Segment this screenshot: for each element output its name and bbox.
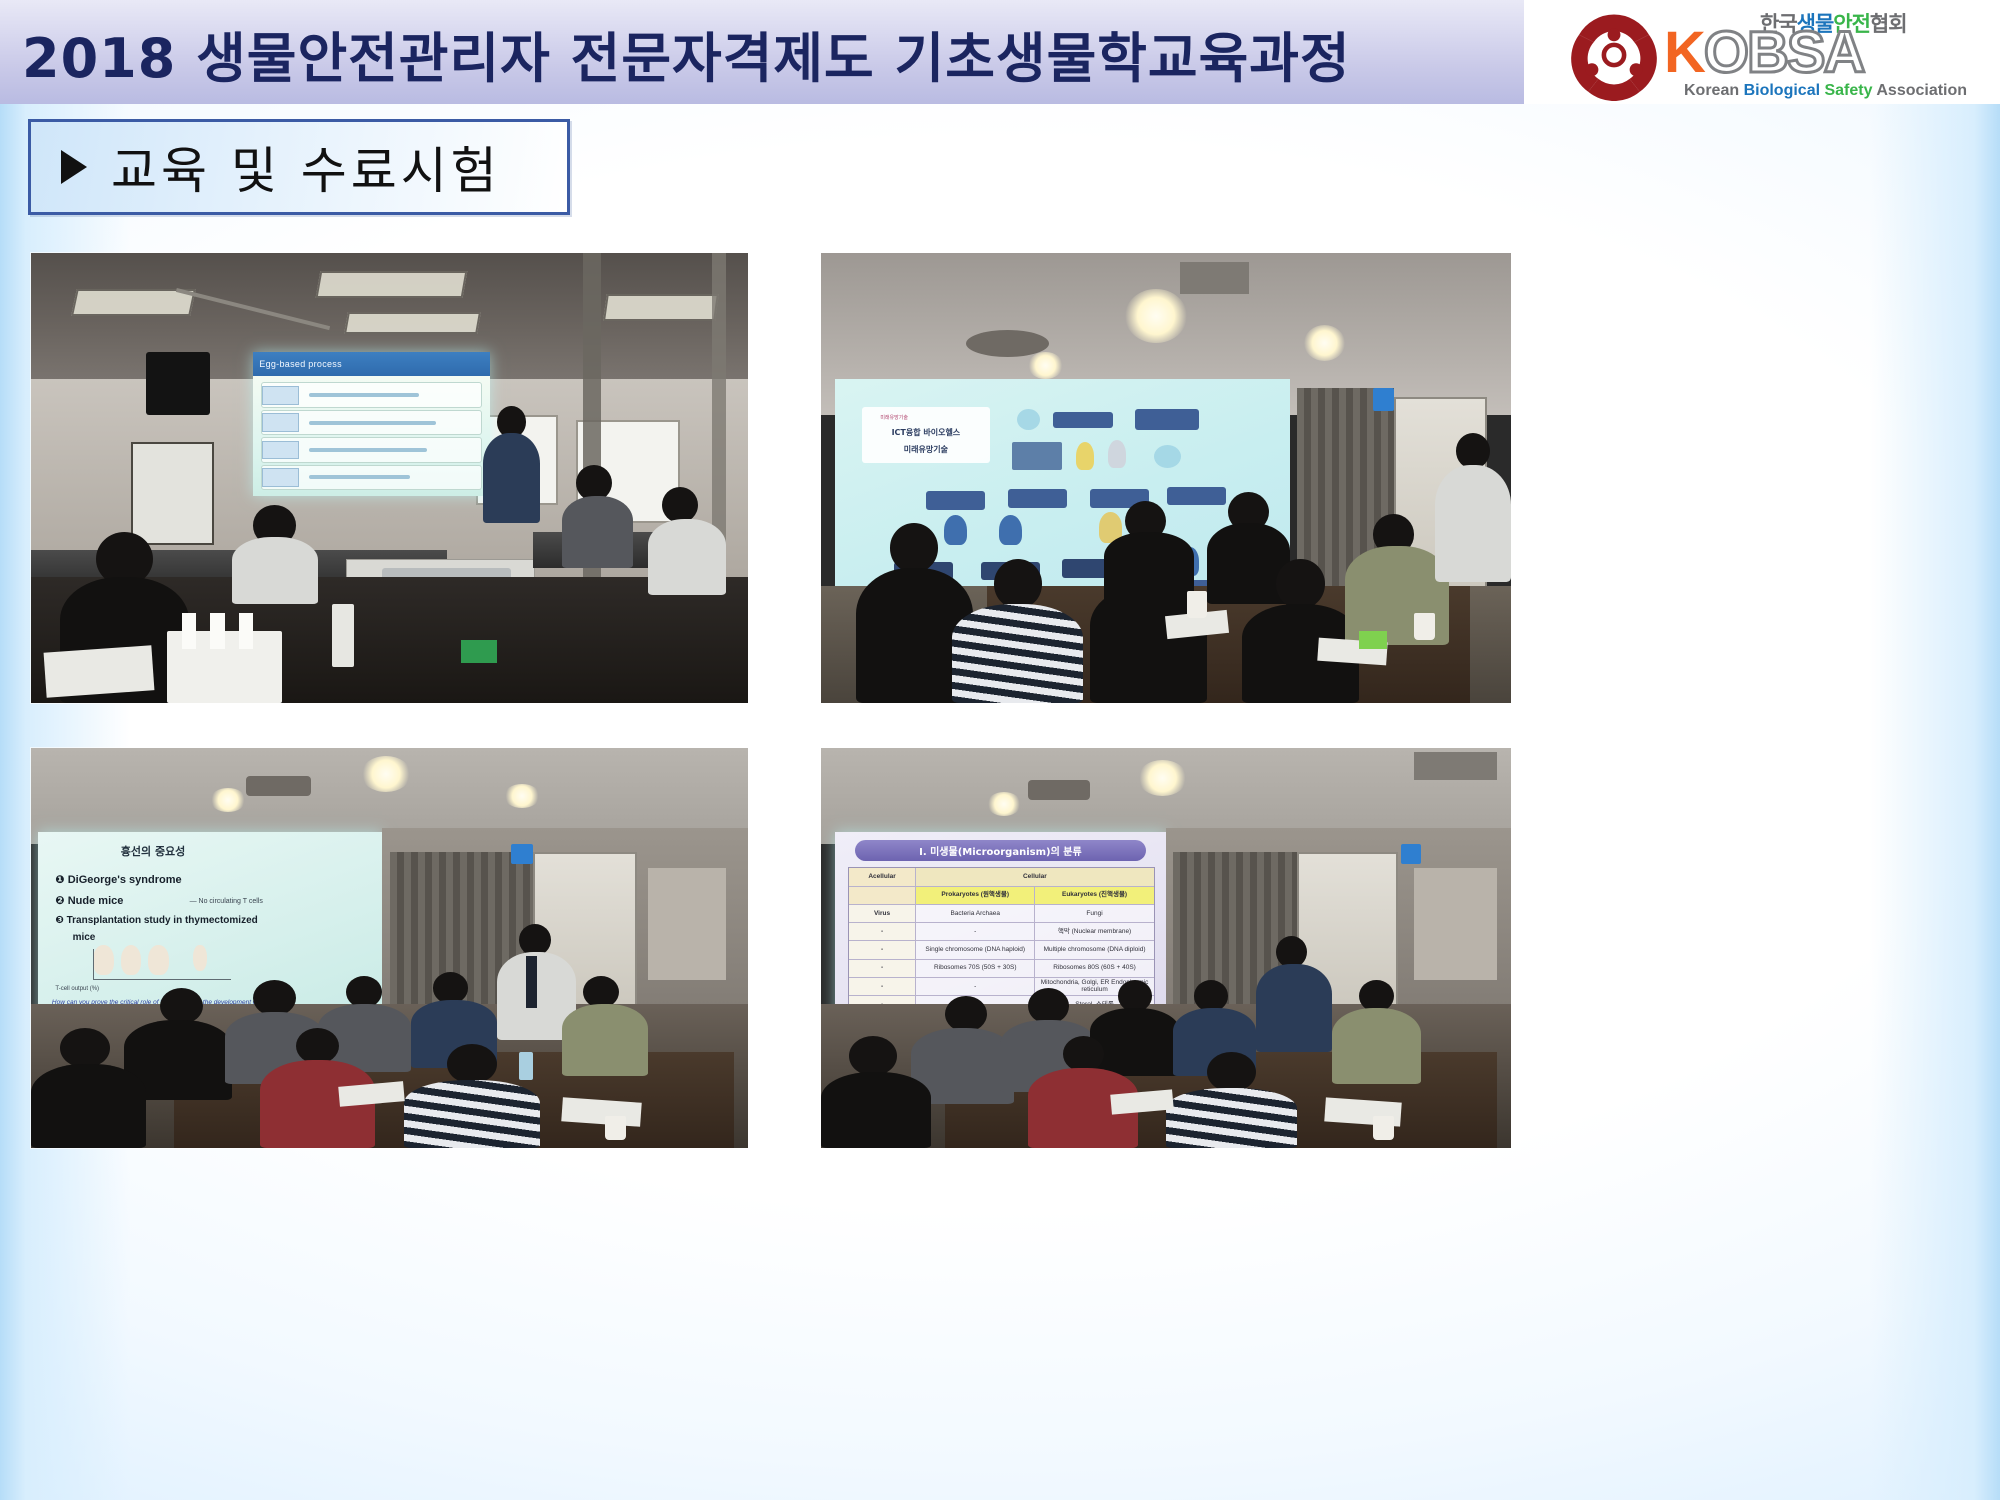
logo-kr-part-3: 협회 [1870,12,1907,36]
slide-note: — No circulating T cells [190,898,263,905]
avatar [662,487,698,523]
table-cell: - [916,978,1035,995]
slide-row [261,437,482,462]
section-heading-box: 교육 및 수료시험 [28,119,570,215]
person-silhouette [1090,1008,1180,1076]
slide-chip [1053,412,1112,428]
slide-bullet-1: ❷ Nude mice [55,894,123,907]
chart-axis-label: T-cell output (%) [55,986,99,992]
logo-en-part-3: Association [1876,82,1967,99]
slide-person-icon [1108,440,1126,468]
exit-sign-icon [1373,388,1394,411]
table-row: - Single chromosome (DNA haploid) Multip… [849,941,1154,959]
logo-en-part-1: Biological [1744,82,1825,99]
slide-text-line [309,448,427,452]
slide-row [261,410,482,435]
slide-person-icon [1076,442,1094,470]
slide-text-line [309,393,418,397]
avatar [1207,1052,1255,1092]
table-row: Virus Bacteria Archaea Fungi [849,905,1154,923]
logo-acronym: KOBSA [1664,24,1863,82]
wall-poster [131,442,214,545]
person-silhouette-lecturer [1256,964,1332,1052]
person-silhouette [1104,532,1194,604]
slide-text-line [309,475,410,479]
ceiling-vent [1180,262,1249,294]
person-silhouette [562,1004,648,1076]
table-cell-cellular: Cellular [916,868,1154,885]
slide-canvas: 2018 생물안전관리자 전문자격제도 기초생물학교육과정 한국생물안전협회 K… [0,0,2000,1500]
person-silhouette [1435,465,1511,582]
photo-lecture-microorganism-classification: I. 미생물(Microorganism)의 분류 Acellular Cell… [821,748,1511,1148]
slide-chip [1167,487,1226,506]
avatar [296,1028,339,1064]
table-cell: - [849,923,916,940]
avatar [1063,1036,1104,1072]
logo-en-part-0: Korean [1684,82,1744,99]
avatar [447,1044,497,1084]
ceiling-downlight [361,756,411,792]
table-cell: Single chromosome (DNA haploid) [916,941,1035,958]
table-cell: Ribosomes 70S (50S + 30S) [916,960,1035,977]
table-cell: - [849,978,916,995]
person-silhouette [1332,1008,1422,1084]
logo-en-part-2: Safety [1824,82,1876,99]
avatar [890,523,938,573]
table-cell-bacteria-archaea: Bacteria Archaea [916,905,1035,922]
avatar [253,980,296,1016]
photo-lab-classroom-egg-based-process: Egg-based process [31,253,748,703]
slide-title: I. 미생물(Microorganism)의 분류 [855,840,1146,862]
diagram-shape [193,945,207,971]
avatar [945,996,986,1032]
slide-title-line1: ICT융합 바이오헬스 [867,428,985,438]
logo-english-name: Korean Biological Safety Association [1684,82,1967,100]
avatar [994,559,1042,609]
slide-icon [1154,445,1181,468]
green-item [461,640,497,663]
diagram-shape [93,945,114,975]
table-row: - - Mitochondria, Golgi, ER Endoplasmic … [849,978,1154,996]
slide-thumb [262,413,299,432]
ceiling-downlight [504,784,540,808]
slide-person-icon [999,515,1022,545]
avatar [1276,559,1324,609]
table-cell: - [916,923,1035,940]
person-silhouette [648,519,727,596]
faucet [332,604,354,667]
table-cell-prokaryotes: Prokaryotes (원핵생물) [916,887,1035,904]
projection-screen: Egg-based process [253,352,490,496]
avatar [160,988,203,1024]
person-silhouette [952,604,1083,703]
table-row: Acellular Cellular [849,868,1154,886]
test-tube [239,613,253,649]
ceiling-speaker [1028,780,1090,800]
photo-3-scene: 흉선의 중요성 ❶ DiGeorge's syndrome ❷ Nude mic… [31,748,748,1148]
photo-1-scene: Egg-based process [31,253,748,703]
table-cell: 핵막 (Nuclear membrane) [1035,923,1153,940]
kobsa-logo: 한국생물안전협회 KOBSA Korean Biological Safety … [1524,0,2000,104]
projection-screen: I. 미생물(Microorganism)의 분류 Acellular Cell… [835,832,1166,1028]
slide-chip [926,491,985,510]
test-tube [210,613,224,649]
slide-bullet-3: mice [73,932,96,943]
ceiling-downlight [1138,760,1186,796]
logo-acronym-rest: OBSA [1704,20,1864,85]
avatar [1456,433,1491,469]
diagram-shape [121,945,142,975]
paper-cup [1187,591,1208,618]
chart-axis [93,979,231,980]
paper-cup [1414,613,1435,640]
person-silhouette [821,1072,931,1148]
slide-icon [1017,409,1040,430]
chart-axis [93,949,94,979]
section-heading-text: 교육 및 수료시험 [111,131,501,203]
open-book [44,645,154,697]
slide-person-icon [944,515,967,545]
page-title: 2018 생물안전관리자 전문자격제도 기초생물학교육과정 [22,14,1351,93]
photo-meeting-room-ict-bio-health: 미래유망기술 ICT융합 바이오헬스 미래유망기술 [821,253,1511,703]
table-row: - Ribosomes 70S (50S + 30S) Ribosomes 80… [849,960,1154,978]
water-bottle [519,1052,533,1080]
ceiling-speaker [246,776,311,796]
avatar [60,1028,110,1068]
ceiling-panel-light [315,271,467,298]
slide-thumb [262,386,299,405]
green-marker [1359,631,1387,649]
ceiling-downlight [210,788,246,812]
table-cell: Multiple chromosome (DNA diploid) [1035,941,1153,958]
table-cell-virus: Virus [849,905,916,922]
table-cell-acellular: Acellular [849,868,916,885]
person-silhouette [1166,1088,1297,1148]
triangle-right-icon [61,150,87,184]
table-cell: - [849,960,916,977]
slide-monitor-icon [1012,442,1062,470]
table-cell-blank [849,887,916,904]
slide-row [261,465,482,490]
slide-thumb [262,441,299,460]
slide-table: Acellular Cellular Prokaryotes (원핵생물) Eu… [848,867,1155,1014]
diagram-shape [148,945,169,975]
table-row: Prokaryotes (원핵생물) Eukaryotes (진핵생물) [849,887,1154,905]
table-cell-eukaryotes: Eukaryotes (진핵생물) [1035,887,1153,904]
ceiling-downlight [1304,325,1345,361]
photo-lecture-thymus-importance: 흉선의 중요성 ❶ DiGeorge's syndrome ❷ Nude mic… [31,748,748,1148]
slide-text-line [309,421,436,425]
ceiling-panel-light [345,312,482,334]
slide-tag: 미래유망기술 [880,414,908,421]
table-cell: - [849,941,916,958]
table-cell-fungi: Fungi [1035,905,1153,922]
necktie [526,956,537,1008]
photo-2-scene: 미래유망기술 ICT융합 바이오헬스 미래유망기술 [821,253,1511,703]
cabinet [648,868,727,980]
person-silhouette [31,1064,146,1148]
exit-sign-icon [1401,844,1422,864]
person-silhouette [483,433,540,523]
slide-chip [1008,489,1067,508]
ceiling-vent [1414,752,1497,780]
ceiling-downlight [987,792,1022,816]
avatar [849,1036,897,1076]
slide-thumb [262,468,299,487]
slide-body [253,376,490,496]
slide-header-text: Egg-based process [253,352,490,376]
ceiling-panel-light [71,289,195,316]
person-silhouette [562,496,634,568]
paper-cup [1373,1116,1394,1140]
ceiling-speaker [966,330,1049,357]
photo-4-scene: I. 미생물(Microorganism)의 분류 Acellular Cell… [821,748,1511,1148]
projector-mount [146,352,211,415]
ceiling-downlight [1125,289,1187,343]
projection-screen: 흉선의 중요성 ❶ DiGeorge's syndrome ❷ Nude mic… [38,832,382,1020]
avatar [1028,988,1069,1024]
test-tube [182,613,196,649]
slide-title: 흉선의 중요성 [121,843,186,859]
ceiling-downlight [1028,352,1063,379]
paper-cup [605,1116,627,1140]
logo-wordmark: 한국생물안전협회 KOBSA Korean Biological Safety … [1664,2,1994,102]
slide-bullet-2: ❸ Transplantation study in thymectomized [55,915,257,926]
slide-bullet-0: ❶ DiGeorge's syndrome [55,873,181,886]
table-cell: Ribosomes 80S (60S + 40S) [1035,960,1153,977]
person-silhouette [404,1080,540,1148]
cabinet [1414,868,1497,980]
person-silhouette [232,537,318,605]
exit-sign-icon [511,844,533,864]
slide-chip [1135,409,1199,430]
table-row: - - 핵막 (Nuclear membrane) [849,923,1154,941]
logo-acronym-k: K [1664,20,1704,85]
ceiling-panel-light [603,294,718,321]
slide-title-line2: 미래유망기술 [867,445,985,455]
biohazard-icon [1568,9,1660,101]
slide-row [261,382,482,407]
